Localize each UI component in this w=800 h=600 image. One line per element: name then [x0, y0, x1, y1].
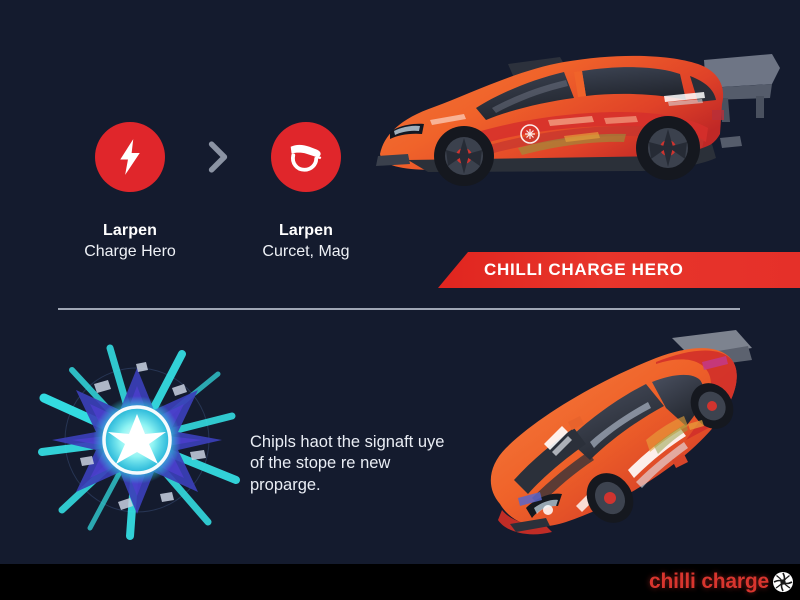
banner-label: CHILLI CHARGE HERO [484, 260, 684, 280]
feature-row: Larpen Charge Hero Larpen Curce [70, 122, 366, 262]
feature-item-0[interactable]: Larpen Charge Hero [70, 122, 190, 262]
feature-subtitle-0: Charge Hero [84, 243, 176, 261]
badge-circle-0[interactable] [95, 122, 165, 192]
section-divider [58, 308, 740, 310]
feature-item-1[interactable]: Larpen Curcet, Mag [246, 122, 366, 262]
feature-subtitle-1: Curcet, Mag [262, 243, 349, 261]
poster-canvas: Larpen Charge Hero Larpen Curce [0, 0, 800, 600]
footer-brand: chilli charge [649, 570, 769, 594]
chevron-right-icon [190, 122, 246, 192]
sports-car-side-view [368, 38, 792, 220]
feature-title-1: Larpen [279, 222, 333, 240]
hand-plug-icon [287, 140, 325, 174]
footer-bar: chilli charge [0, 564, 800, 600]
lightning-bolt-icon [117, 139, 143, 175]
badge-circle-1[interactable] [271, 122, 341, 192]
chilli-emblem-icon [772, 571, 794, 593]
sports-car-top-view [440, 328, 792, 552]
energy-burst-icon [32, 340, 242, 540]
chilli-charge-hero-banner: CHILLI CHARGE HERO [438, 252, 800, 288]
body-paragraph: Chipls haot the signaft uye of the stope… [250, 432, 450, 497]
feature-title-0: Larpen [103, 222, 157, 240]
